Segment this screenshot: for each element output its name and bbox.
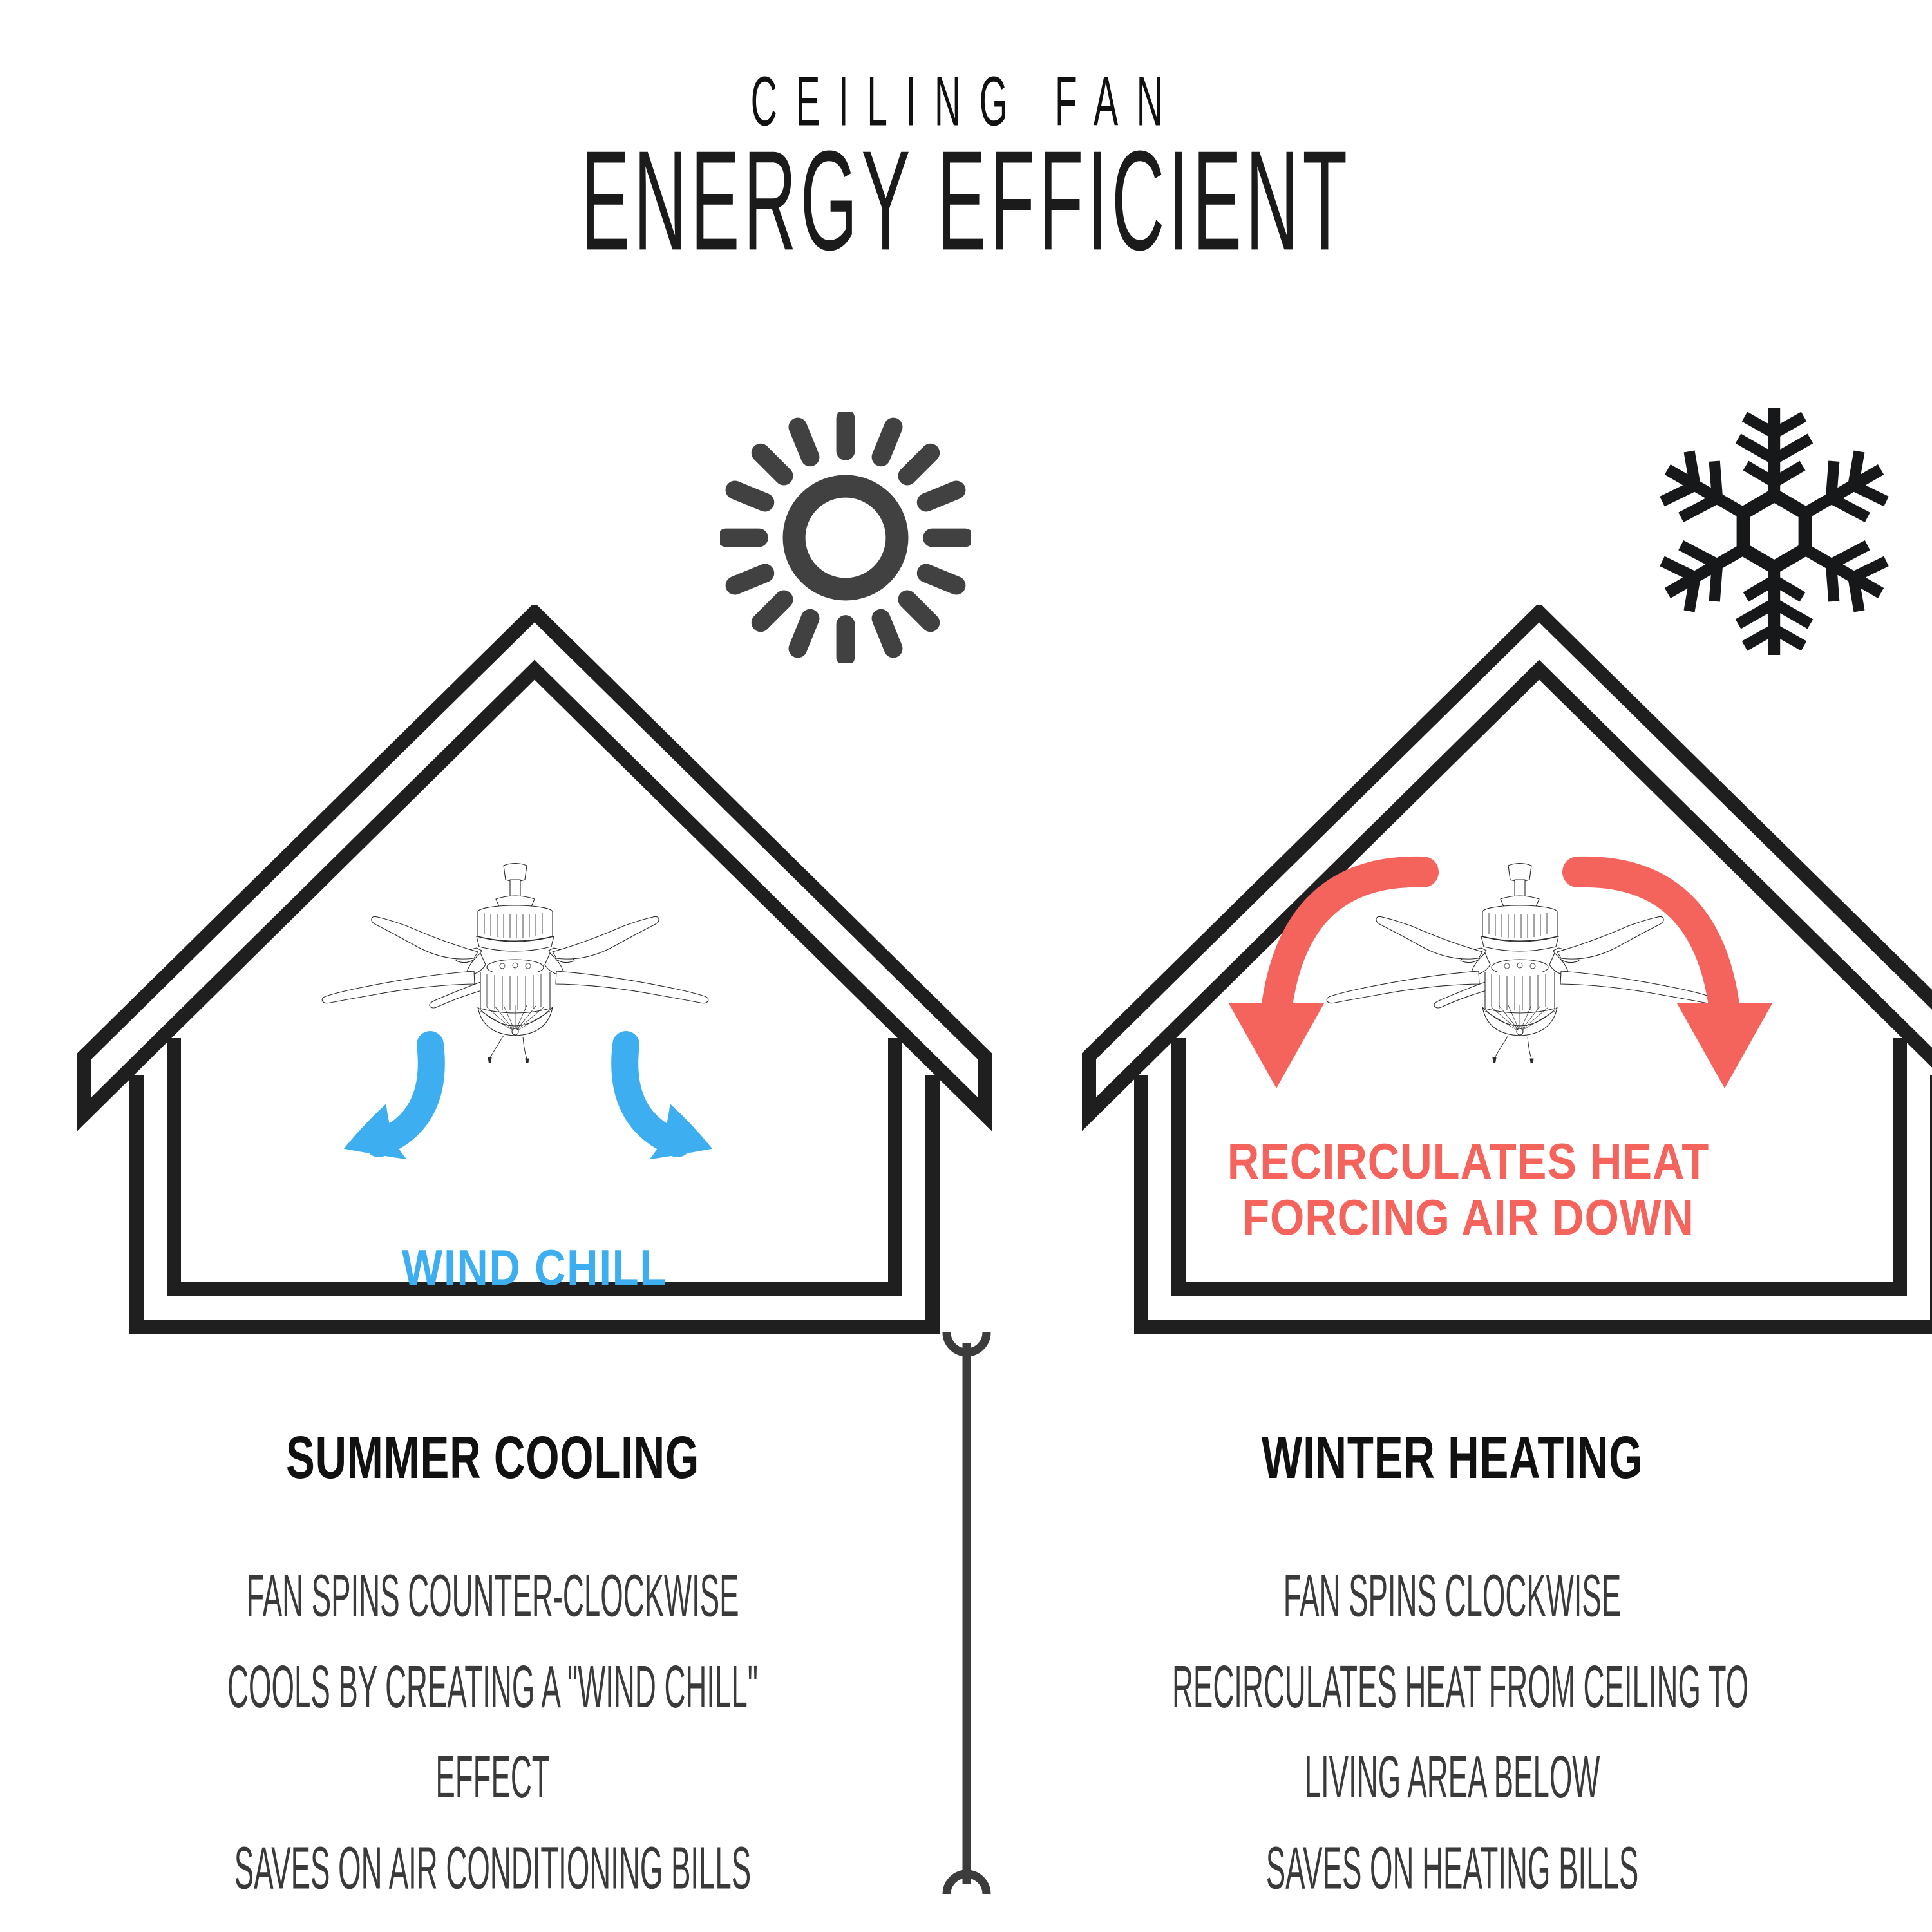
winter-body: FAN SPINS CLOCKWISE RECIRCULATES HEAT FR… [1172,1551,1732,1914]
summer-body: FAN SPINS COUNTER-CLOCKWISE COOLS BY CRE… [213,1551,773,1914]
column-summer: SUMMER COOLING FAN SPINS COUNTER-CLOCKWI… [26,1426,960,1848]
summer-body-line-1: FAN SPINS COUNTER-CLOCKWISE [213,1551,773,1642]
winter-body-line-4: SAVES ON HEATING BILLS [1172,1823,1732,1914]
column-winter: WINTER HEATING FAN SPINS CLOCKWISE RECIR… [985,1426,1919,1848]
title-block: CEILING FAN ENERGY EFFICIENT [0,71,1932,262]
summer-body-line-3: EFFECT [213,1732,773,1823]
ceiling-fan-illustration-winter [1288,857,1752,1063]
winter-body-line-3: LIVING AREA BELOW [1172,1732,1732,1823]
heat-line-1: RECIRCULATES HEAT [1060,1133,1876,1189]
summer-heading: SUMMER COOLING [119,1423,866,1492]
wind-chill-label: WIND CHILL [75,1240,994,1296]
winter-heading: WINTER HEATING [1079,1423,1826,1492]
infographic-canvas: CEILING FAN ENERGY EFFICIENT [0,0,1932,1932]
page-title: ENERGY EFFICIENT [386,129,1546,271]
recirculates-heat-label: RECIRCULATES HEAT FORCING AIR DOWN [1060,1133,1876,1246]
summer-body-line-4: SAVES ON AIR CONDITIONING BILLS [213,1823,773,1914]
winter-body-line-2: RECIRCULATES HEAT FROM CEILING TO [1172,1642,1732,1732]
summer-body-line-2: COOLS BY CREATING A "WIND CHILL" [213,1642,773,1732]
heat-line-2: FORCING AIR DOWN [1060,1189,1876,1245]
ceiling-fan-illustration-summer [283,857,747,1063]
wind-chill-line-1: WIND CHILL [75,1240,994,1296]
winter-body-line-1: FAN SPINS CLOCKWISE [1172,1551,1732,1642]
